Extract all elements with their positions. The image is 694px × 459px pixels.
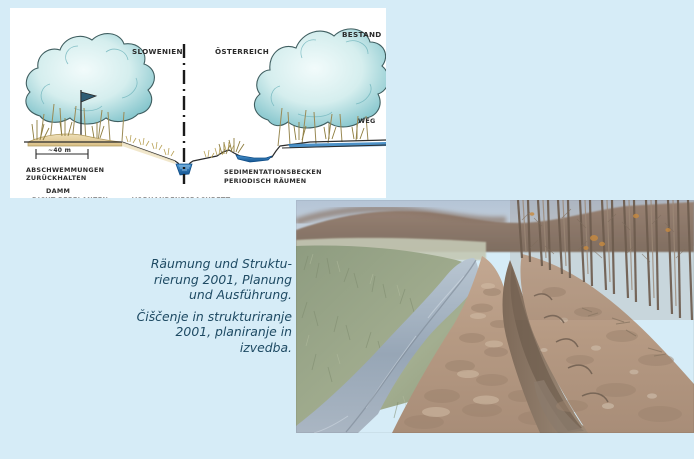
diagram-sketch: ~40 m SLOWENIEN ÖSTERREICH BESTAND WEG A… — [10, 8, 386, 198]
caption-german-line-1: Räumung und Struktu- — [118, 256, 292, 272]
page-root: ~40 m SLOWENIEN ÖSTERREICH BESTAND WEG A… — [0, 0, 694, 459]
label-zurueckhalten: ZURÜCKHALTEN — [26, 173, 87, 182]
figure-caption: Räumung und Struktu- rierung 2001, Planu… — [118, 256, 292, 356]
label-dicht-bepflanzen: DICHT BEPFLANZEN — [32, 196, 108, 198]
caption-german-line-3: und Ausführung. — [118, 287, 292, 303]
label-vorhandenes: VORHANDENES — [132, 196, 190, 198]
label-oesterreich: ÖSTERREICH — [215, 47, 269, 56]
tree-line — [510, 200, 694, 320]
caption-slovene-line-3: izvedba. — [118, 340, 292, 356]
label-abschwemmungen: ABSCHWEMMUNGEN — [26, 166, 104, 174]
label-weg: WEG — [358, 117, 376, 125]
caption-slovene-line-1: Čiščenje in strukturiranje — [118, 309, 292, 325]
label-bestand: BESTAND — [342, 30, 382, 39]
caption-german: Räumung und Struktu- rierung 2001, Planu… — [118, 256, 292, 303]
caption-slovene: Čiščenje in strukturiranje 2001, planira… — [118, 309, 292, 356]
label-bachbett: BACHBETT — [190, 196, 231, 198]
photograph — [296, 200, 694, 433]
label-periodisch-raeumen: PERIODISCH RÄUMEN — [224, 176, 306, 185]
label-slowenien: SLOWENIEN — [132, 47, 183, 56]
diagram-panel: ~40 m SLOWENIEN ÖSTERREICH BESTAND WEG A… — [10, 8, 386, 198]
caption-slovene-line-2: 2001, planiranje in — [118, 324, 292, 340]
scale-label: ~40 m — [48, 147, 71, 154]
label-sedimentationsbecken: SEDIMENTATIONSBECKEN — [224, 168, 322, 176]
photograph-content — [296, 200, 694, 433]
label-damm: DAMM — [46, 187, 70, 195]
caption-german-line-2: rierung 2001, Planung — [118, 272, 292, 288]
